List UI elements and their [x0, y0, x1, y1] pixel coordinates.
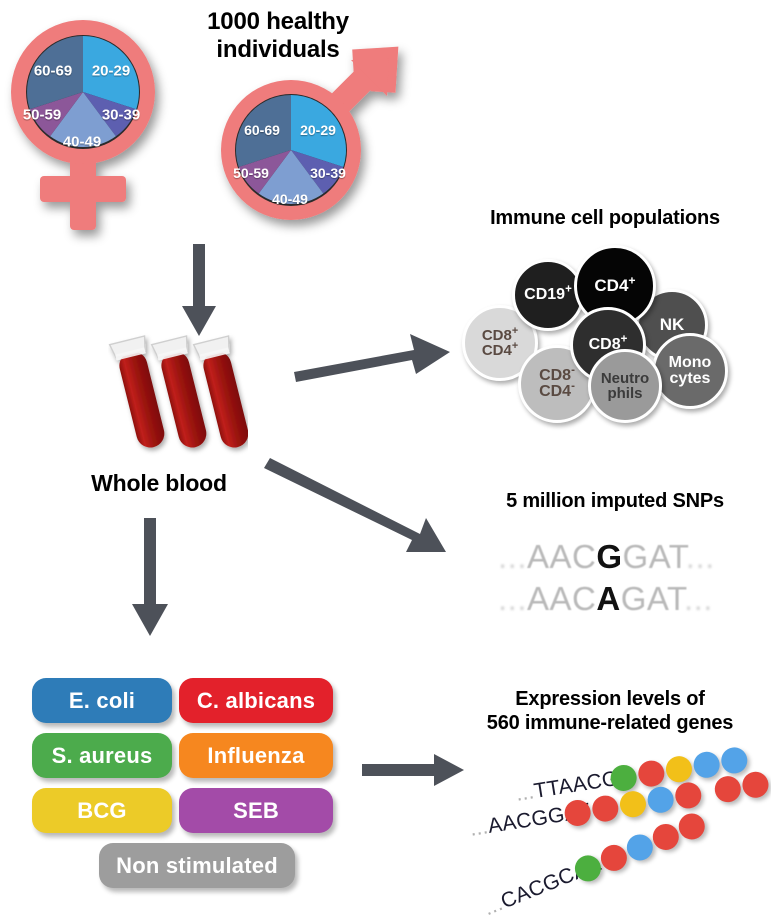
- stimulus-pill-influenza[interactable]: Influenza: [179, 733, 333, 778]
- immune-cell-label: CD8+CD4+: [482, 328, 518, 359]
- female-slice-label-50-59: 50-59: [23, 107, 61, 124]
- immune-cell-cd19pos: CD19+: [512, 259, 584, 331]
- immune-cell-cluster: CD8+CD4+ CD8-CD4- CD19+ CD4+ CD8+ NK Neu…: [460, 245, 760, 425]
- snp-right: GAT: [623, 538, 686, 575]
- snp-variant-allele: G: [596, 538, 622, 575]
- stimulus-pill-seb[interactable]: SEB: [179, 788, 333, 833]
- immune-cell-label: CD4+: [594, 277, 635, 294]
- immune-cell-neutrophils: Neutrophils: [588, 349, 662, 423]
- stimulus-pill-e-coli[interactable]: E. coli: [32, 678, 172, 723]
- arrow-blood-to-stimuli: [130, 518, 174, 642]
- male-slice-label-60-69: 60-69: [244, 122, 280, 138]
- arrow-blood-to-snps: [268, 452, 468, 562]
- stimulus-pill-c-albicans[interactable]: C. albicans: [179, 678, 333, 723]
- whole-blood-label: Whole blood: [84, 470, 234, 497]
- stimulus-label: S. aureus: [52, 743, 153, 769]
- snp-suffix: ...: [684, 580, 713, 617]
- snp-sequence-row-1: ...AACGGAT...: [498, 538, 715, 576]
- snp-sequence-row-2: ...AACAGAT...: [498, 580, 713, 618]
- snp-left: AAC: [527, 538, 596, 575]
- expression-bead: [675, 810, 709, 844]
- male-slice-label-50-59: 50-59: [233, 165, 269, 181]
- female-slice-label-20-29: 20-29: [92, 63, 130, 80]
- blood-tubes-illustration: [108, 332, 248, 467]
- immune-cell-label: Monocytes: [669, 355, 712, 388]
- stimulus-label: E. coli: [69, 688, 135, 714]
- arrow-cohort-to-blood: [178, 244, 222, 340]
- stimulus-label: SEB: [233, 798, 279, 824]
- male-slice-label-30-39: 30-39: [310, 165, 346, 181]
- snp-prefix: ...: [498, 538, 527, 575]
- snps-title: 5 million imputed SNPs: [470, 490, 760, 514]
- stimulus-label: Non stimulated: [116, 853, 278, 879]
- figure-canvas: 1000 healthy individuals 20-2: [0, 0, 771, 922]
- immune-cell-monocytes: Monocytes: [652, 333, 728, 409]
- stimulus-label: Influenza: [207, 743, 304, 769]
- expression-bead: [646, 785, 676, 815]
- expression-bead: [590, 794, 620, 824]
- snp-suffix: ...: [686, 538, 715, 575]
- immune-title: Immune cell populations: [455, 207, 755, 231]
- female-symbol: 20-29 30-39 40-49 50-59 60-69: [8, 14, 198, 239]
- immune-cell-label: CD8-CD4-: [539, 368, 575, 401]
- female-slice-label-60-69: 60-69: [34, 63, 72, 80]
- female-age-pie: [27, 36, 139, 147]
- male-symbol: 20-29 30-39 40-49 50-59 60-69: [203, 42, 418, 237]
- snp-prefix: ...: [498, 580, 527, 617]
- expression-bead: [673, 781, 703, 811]
- arrow-blood-to-immune: [292, 322, 462, 392]
- male-slice-label-20-29: 20-29: [300, 122, 336, 138]
- snp-variant-allele: A: [596, 580, 620, 617]
- stimulus-label: C. albicans: [197, 688, 315, 714]
- male-age-pie: [236, 95, 346, 204]
- male-slice-label-40-49: 40-49: [272, 191, 308, 207]
- female-slice-label-30-39: 30-39: [102, 107, 140, 124]
- female-slice-label-40-49: 40-49: [63, 134, 101, 151]
- immune-cell-label: Neutrophils: [601, 371, 649, 402]
- immune-cell-label: CD19+: [524, 287, 572, 303]
- expression-bead: [618, 789, 648, 819]
- arrow-stimuli-to-expression: [362, 754, 468, 788]
- stimulus-pill-s-aureus[interactable]: S. aureus: [32, 733, 172, 778]
- immune-cell-label: NK: [660, 316, 685, 333]
- stimulus-label: BCG: [77, 798, 127, 824]
- snp-left: AAC: [527, 580, 596, 617]
- stimulus-pill-bcg[interactable]: BCG: [32, 788, 172, 833]
- expression-bead: [741, 770, 771, 800]
- stimulus-pill-non-stimulated[interactable]: Non stimulated: [99, 843, 295, 888]
- snp-right: GAT: [621, 580, 684, 617]
- expression-title: Expression levels of 560 immune-related …: [455, 688, 765, 735]
